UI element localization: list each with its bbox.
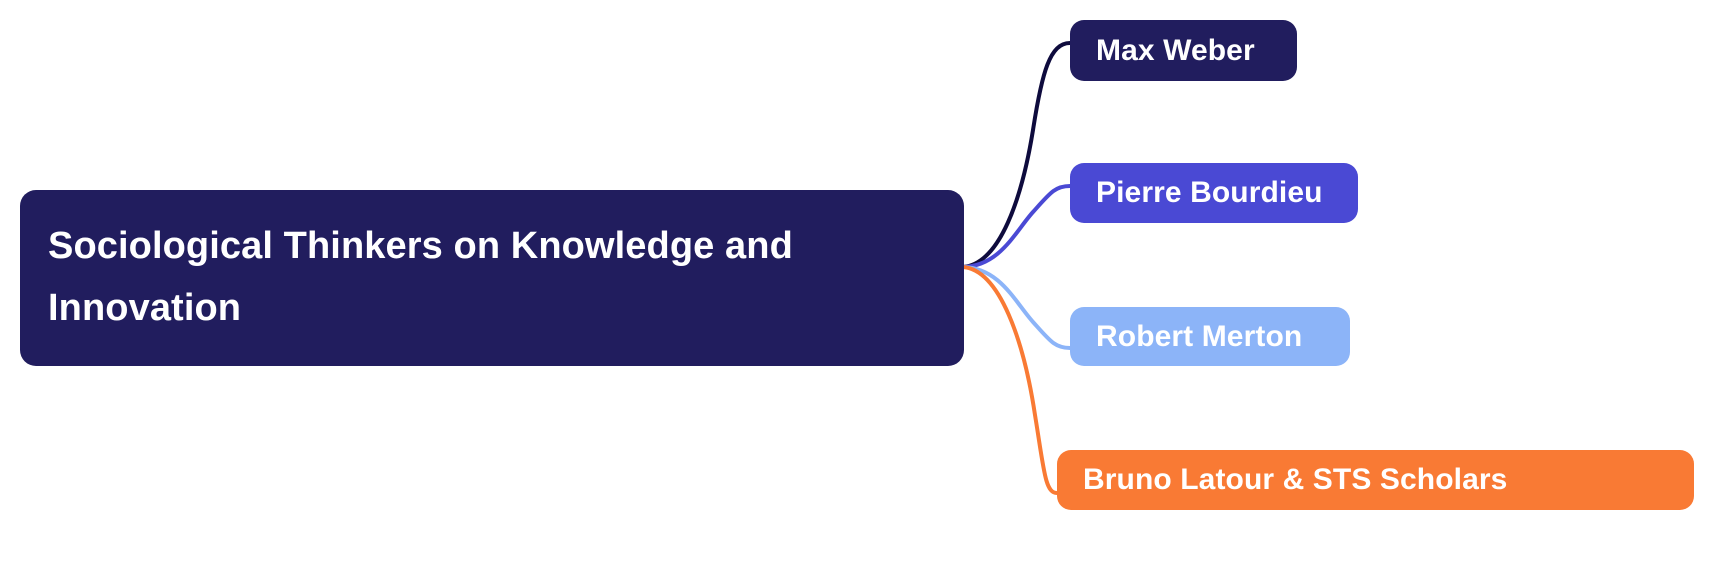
mindmap-node-max-weber[interactable]: Max Weber [1070, 20, 1297, 81]
edge-pierre-bourdieu [963, 186, 1070, 267]
mindmap-node-label-bruno-latour: Bruno Latour & STS Scholars [1083, 463, 1668, 497]
mindmap-node-bruno-latour[interactable]: Bruno Latour & STS Scholars [1057, 450, 1694, 510]
mindmap-node-robert-merton[interactable]: Robert Merton [1070, 307, 1350, 366]
mindmap-node-label-pierre-bourdieu: Pierre Bourdieu [1096, 176, 1332, 210]
edge-max-weber [963, 43, 1070, 267]
edge-robert-merton [963, 267, 1070, 348]
mindmap-node-label-max-weber: Max Weber [1096, 34, 1271, 68]
mindmap-root-node[interactable]: Sociological Thinkers on Knowledge and I… [20, 190, 964, 366]
mindmap-node-pierre-bourdieu[interactable]: Pierre Bourdieu [1070, 163, 1358, 223]
mindmap-root-label: Sociological Thinkers on Knowledge and I… [48, 216, 936, 339]
mindmap-node-label-robert-merton: Robert Merton [1096, 320, 1324, 354]
edge-bruno-latour [963, 267, 1057, 493]
mindmap-canvas: Sociological Thinkers on Knowledge and I… [0, 0, 1716, 572]
